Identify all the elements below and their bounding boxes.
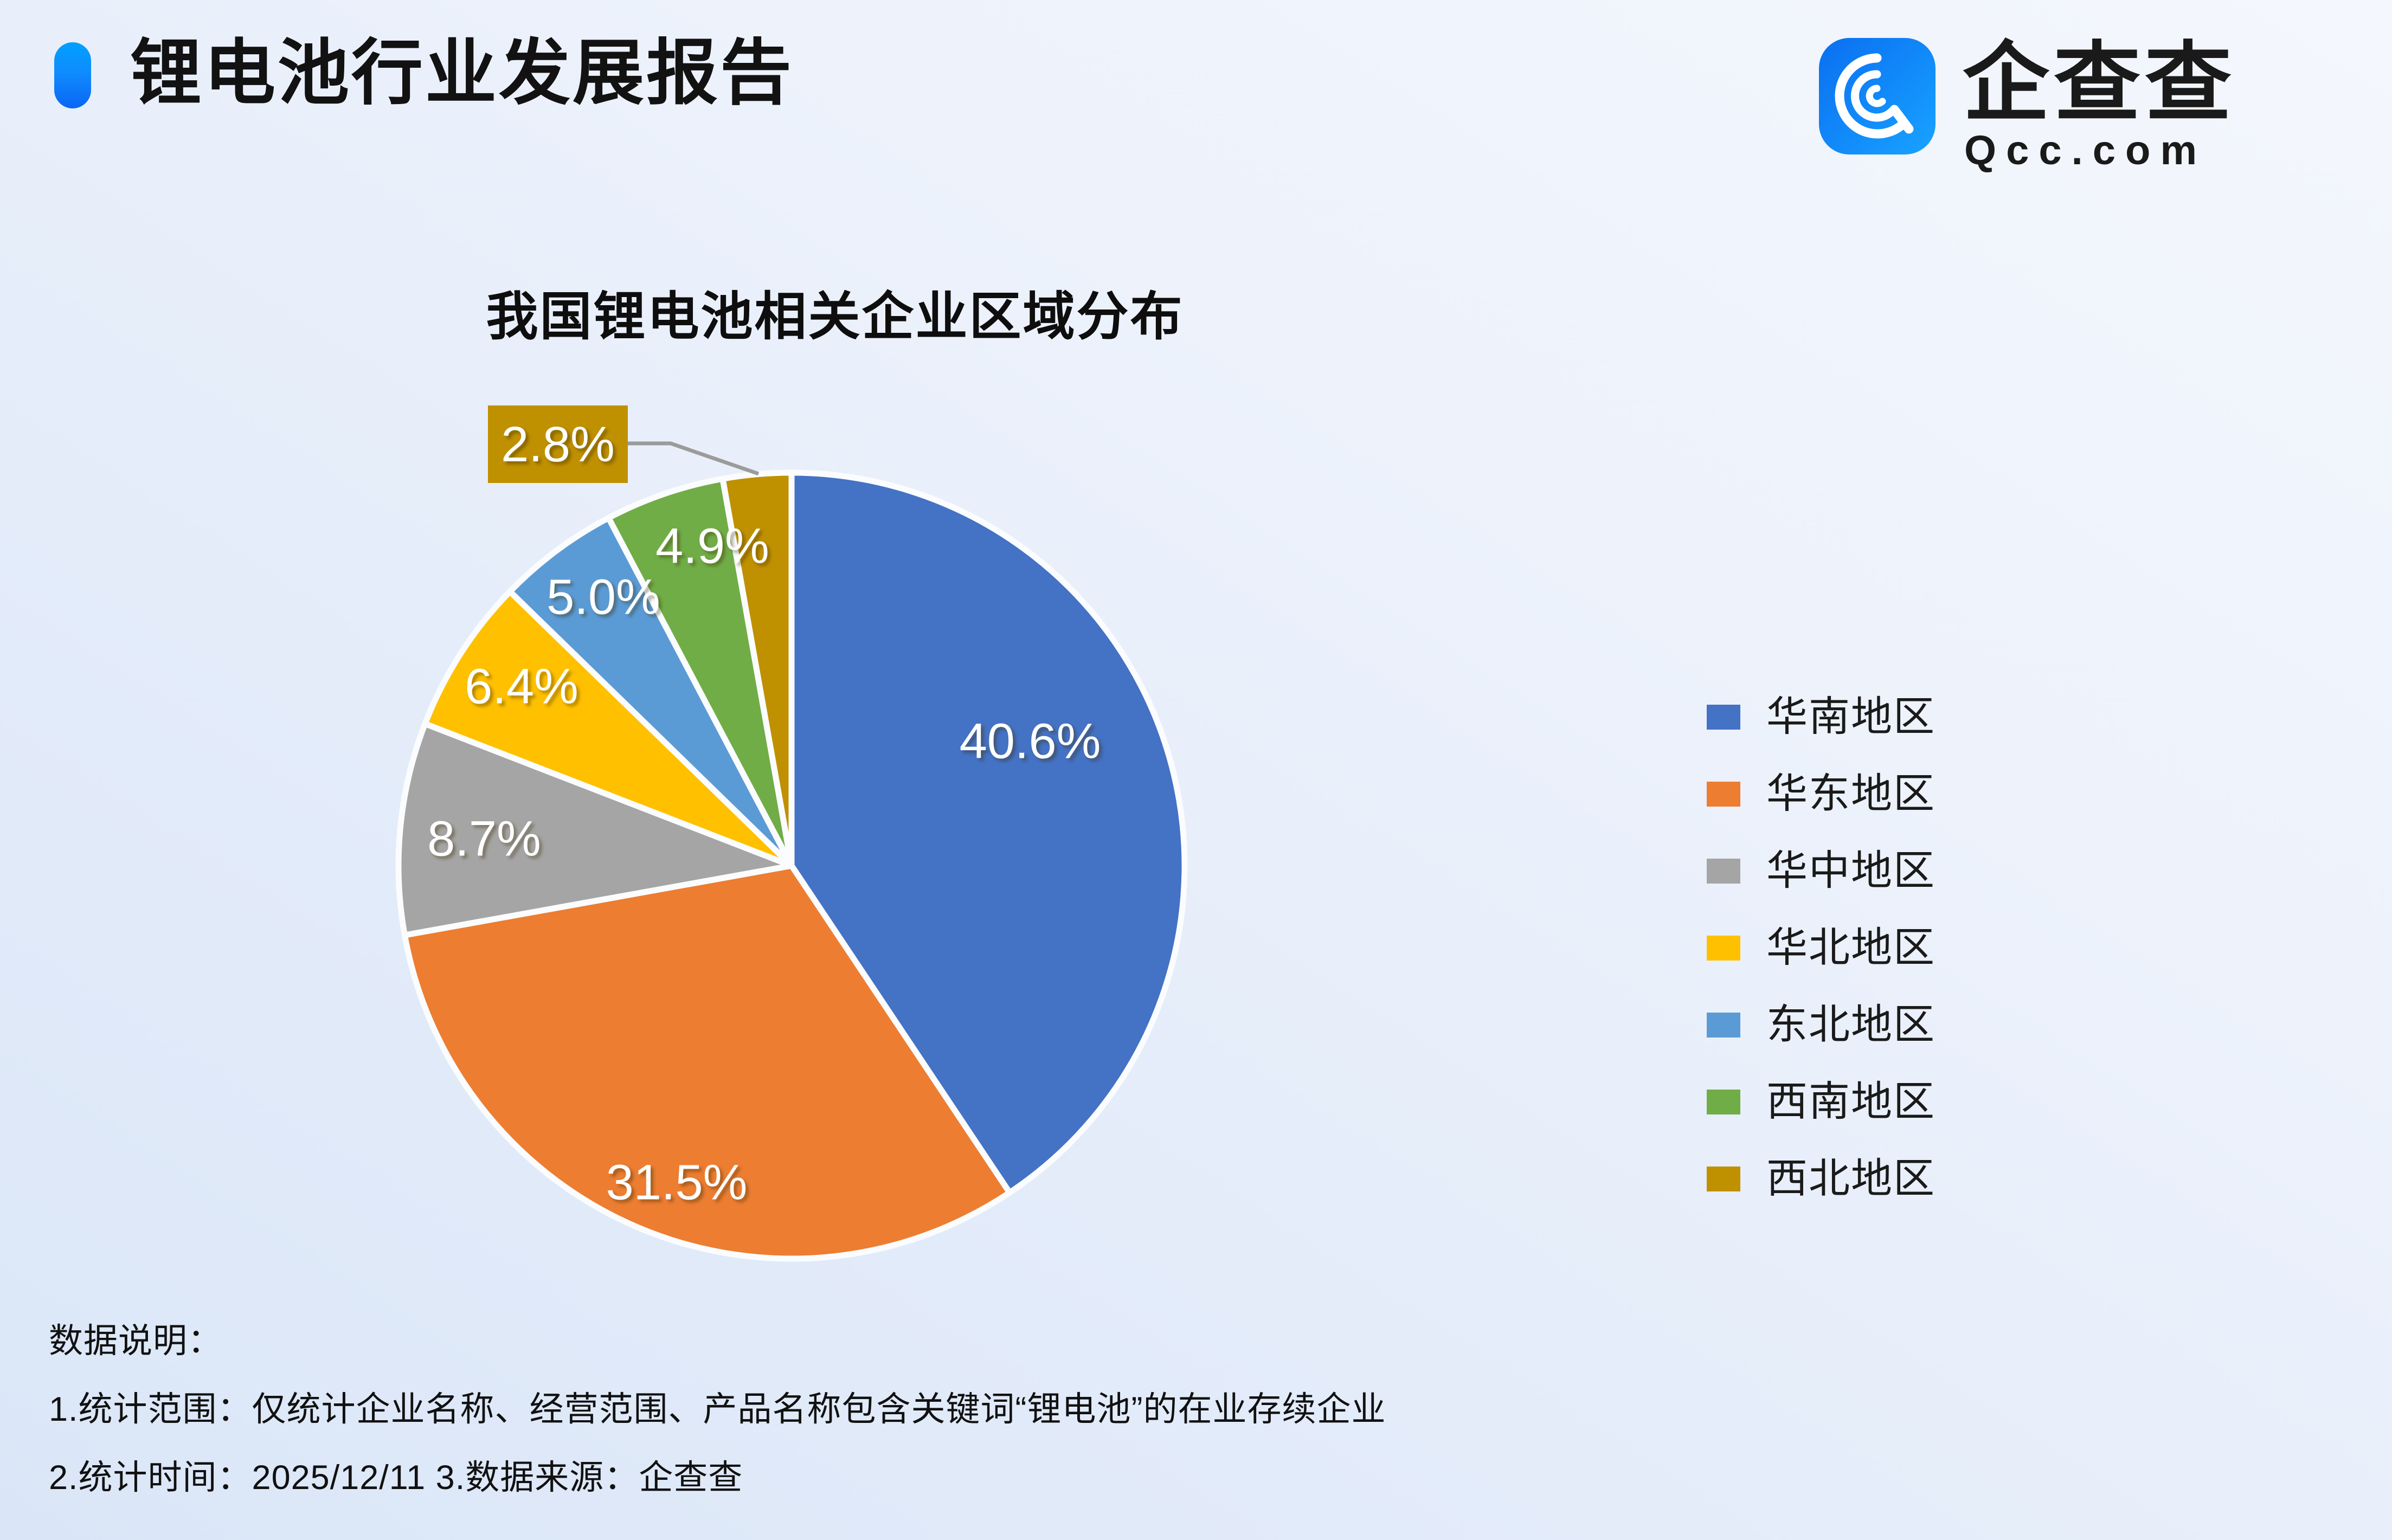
legend-item-label: 西北地区 bbox=[1766, 1156, 1936, 1202]
legend-swatch-icon bbox=[1707, 705, 1740, 730]
legend-item[interactable]: 华北地区 bbox=[1707, 910, 2086, 987]
brand-domain: Qcc.com bbox=[1964, 129, 2207, 172]
chart-legend: 华南地区华东地区华中地区华北地区东北地区西南地区西北地区 bbox=[1707, 679, 2086, 1217]
legend-item-label: 华中地区 bbox=[1766, 848, 1936, 894]
callout-leader-line bbox=[628, 443, 758, 474]
legend-swatch-icon bbox=[1707, 1090, 1740, 1114]
legend-item-label: 华南地区 bbox=[1766, 694, 1936, 740]
legend-swatch-icon bbox=[1707, 936, 1740, 961]
legend-swatch-icon bbox=[1707, 859, 1740, 884]
legend-item[interactable]: 东北地区 bbox=[1707, 987, 2086, 1064]
legend-swatch-icon bbox=[1707, 1013, 1740, 1038]
callout-label-text: 2.8% bbox=[501, 417, 615, 472]
legend-item[interactable]: 华中地区 bbox=[1707, 833, 2086, 910]
qcc-spiral-q-icon bbox=[1819, 38, 1936, 154]
legend-item-label: 华北地区 bbox=[1766, 925, 1936, 971]
data-notes-heading: 数据说明： bbox=[49, 1312, 2217, 1370]
legend-item-label: 华东地区 bbox=[1766, 771, 1936, 817]
callout-label-xibei: 2.8% bbox=[488, 405, 628, 483]
pie-chart: 40.6%31.5%8.7%6.4%5.0%4.9% 2.8% bbox=[0, 0, 1681, 1301]
legend-item[interactable]: 西北地区 bbox=[1707, 1140, 2086, 1217]
legend-item-label: 西南地区 bbox=[1766, 1079, 1936, 1125]
brand-logo[interactable]: 企查查 Qcc.com bbox=[1819, 33, 2339, 168]
pie-chart-svg bbox=[0, 0, 1681, 1301]
legend-item[interactable]: 华东地区 bbox=[1707, 756, 2086, 833]
legend-item[interactable]: 西南地区 bbox=[1707, 1064, 2086, 1140]
data-notes-line-1: 1.统计范围：仅统计企业名称、经营范围、产品名称包含关键词“锂电池”的在业存续企… bbox=[49, 1380, 2217, 1439]
legend-swatch-icon bbox=[1707, 1167, 1740, 1191]
brand-name-cn: 企查查 bbox=[1963, 37, 2236, 129]
legend-item-label: 东北地区 bbox=[1766, 1002, 1936, 1048]
data-notes: 数据说明： 1.统计范围：仅统计企业名称、经营范围、产品名称包含关键词“锂电池”… bbox=[49, 1312, 2217, 1507]
data-notes-line-2: 2.统计时间：2025/12/11 3.数据来源：企查查 bbox=[49, 1448, 2217, 1507]
legend-item[interactable]: 华南地区 bbox=[1707, 679, 2086, 756]
legend-swatch-icon bbox=[1707, 782, 1740, 807]
